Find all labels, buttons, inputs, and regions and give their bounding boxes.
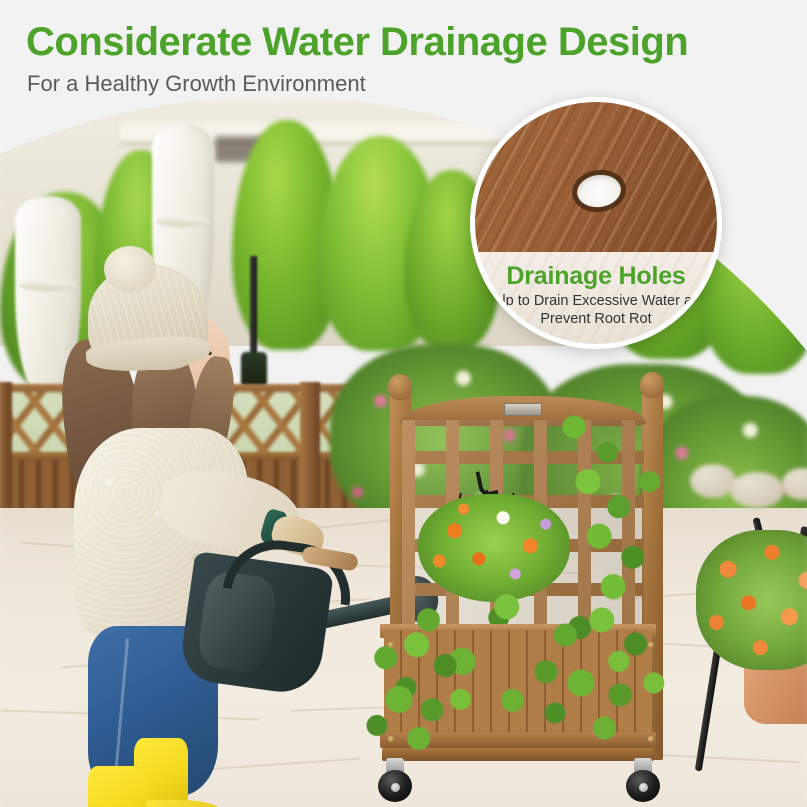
page-subtitle: For a Healthy Growth Environment (27, 71, 366, 97)
drainage-callout-circle: Drainage Holes Help to Drain Excessive W… (470, 97, 722, 349)
trailing-ivy (542, 596, 672, 746)
post-finial (640, 372, 664, 398)
header-block: Considerate Water Drainage Design For a … (0, 0, 807, 110)
umbrella-tie (156, 216, 211, 227)
rain-boot (88, 766, 146, 807)
caster-wheel (378, 758, 412, 802)
garden-rock (690, 464, 736, 498)
post-finial (388, 374, 412, 400)
screw (648, 642, 654, 648)
marketing-image: Considerate Water Drainage Design For a … (0, 0, 807, 807)
garden-rock (730, 472, 784, 508)
screw (388, 642, 394, 648)
callout-description: Help to Drain Excessive Water and Preven… (475, 292, 717, 328)
wheel-hub (639, 783, 648, 792)
screw (388, 736, 394, 742)
trailing-ivy (366, 624, 476, 754)
girl-figure (60, 246, 330, 806)
wheel-hub (391, 783, 400, 792)
orange-flowers (696, 530, 807, 670)
beanie-pompom (104, 246, 156, 292)
planter-cart (356, 374, 696, 806)
potted-plant-on-stand (700, 516, 807, 766)
caster-wheel (626, 758, 660, 802)
page-title: Considerate Water Drainage Design (26, 20, 688, 65)
callout-title: Drainage Holes (475, 262, 717, 291)
screw (648, 736, 654, 742)
